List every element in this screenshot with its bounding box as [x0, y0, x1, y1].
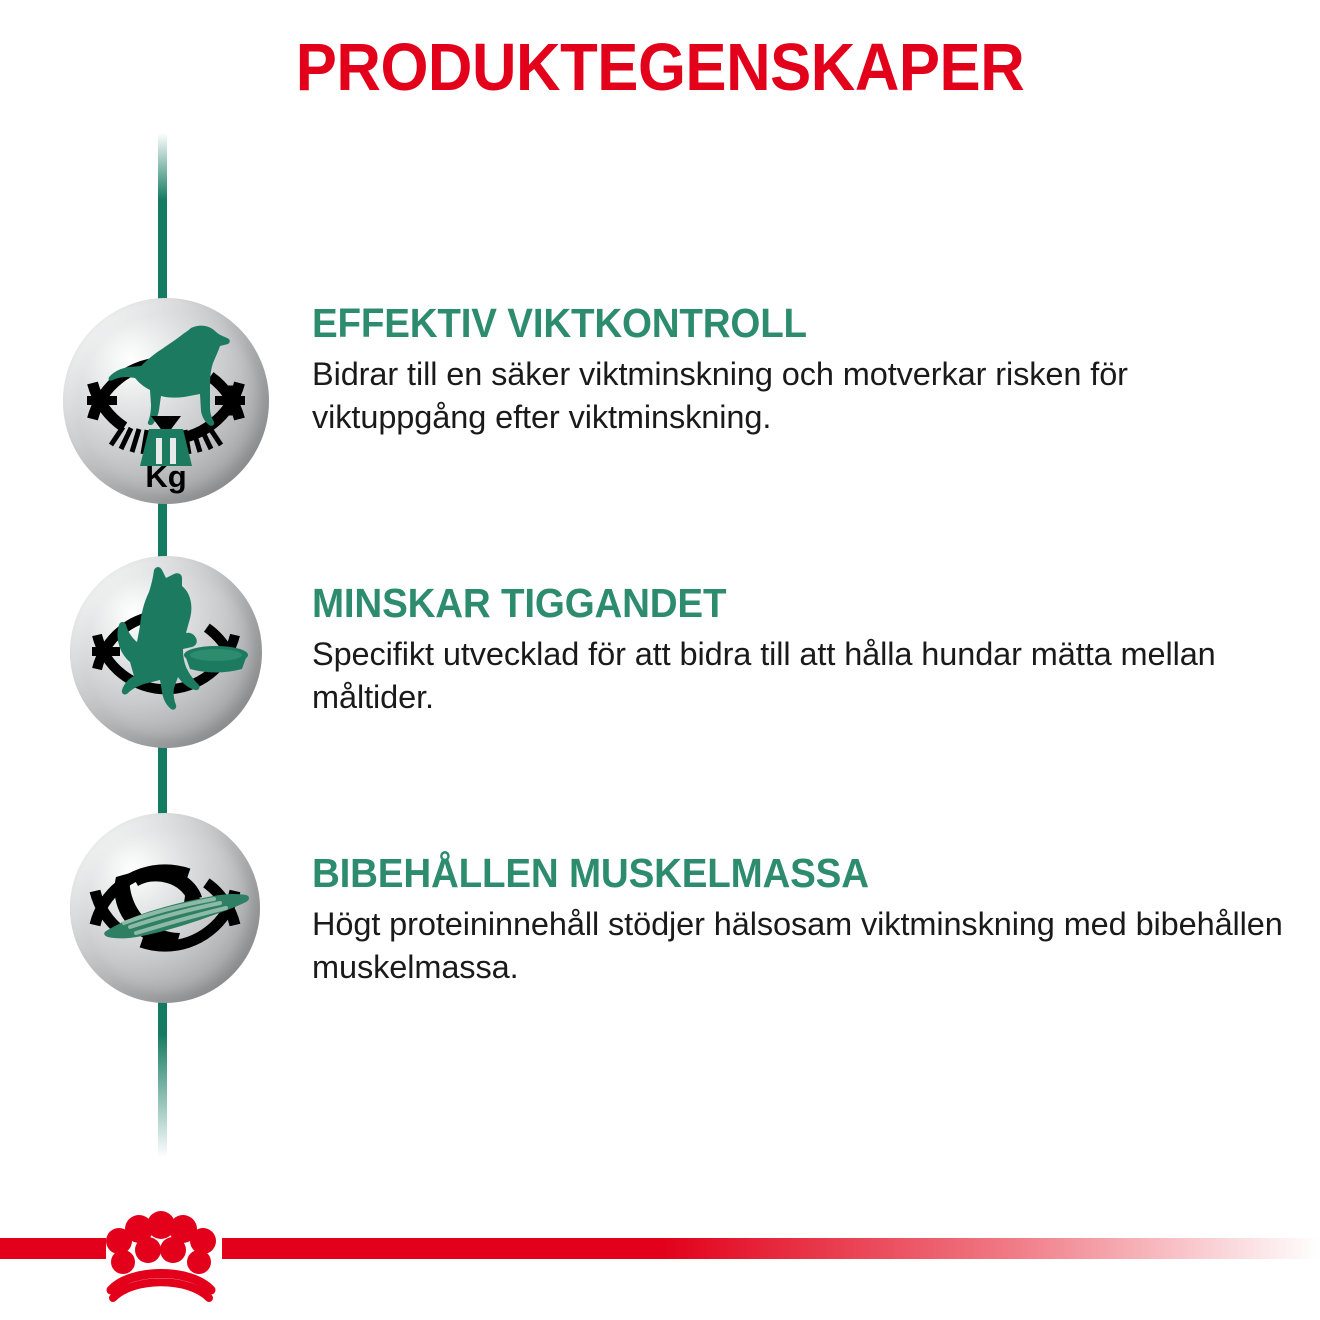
muscle-fiber-icon	[70, 813, 260, 1003]
feature-heading-1: EFFEKTIV VIKTKONTROLL	[312, 302, 1229, 345]
royal-canin-crown-logo	[91, 1206, 231, 1302]
footer-bar-right	[222, 1238, 1320, 1259]
feature-body-1: Bidrar till en säker viktminskning och m…	[312, 353, 1287, 438]
weight-scale-dog-icon: Kg	[63, 298, 269, 504]
begging-dog-bowl-icon	[70, 556, 262, 748]
product-features-page: PRODUKTEGENSKAPER	[0, 0, 1320, 1320]
feature-text-3: BIBEHÅLLEN MUSKELMASSA Högt proteininneh…	[312, 852, 1287, 988]
svg-text:Kg: Kg	[145, 459, 186, 494]
feature-heading-2: MINSKAR TIGGANDET	[312, 582, 1229, 625]
page-title: PRODUKTEGENSKAPER	[53, 34, 1267, 101]
feature-text-1: EFFEKTIV VIKTKONTROLL Bidrar till en säk…	[312, 302, 1287, 438]
feature-text-2: MINSKAR TIGGANDET Specifikt utvecklad fö…	[312, 582, 1287, 718]
feature-body-2: Specifikt utvecklad för att bidra till a…	[312, 633, 1287, 718]
feature-body-3: Högt proteininnehåll stödjer hälsosam vi…	[312, 903, 1287, 988]
feature-heading-3: BIBEHÅLLEN MUSKELMASSA	[312, 852, 1229, 895]
